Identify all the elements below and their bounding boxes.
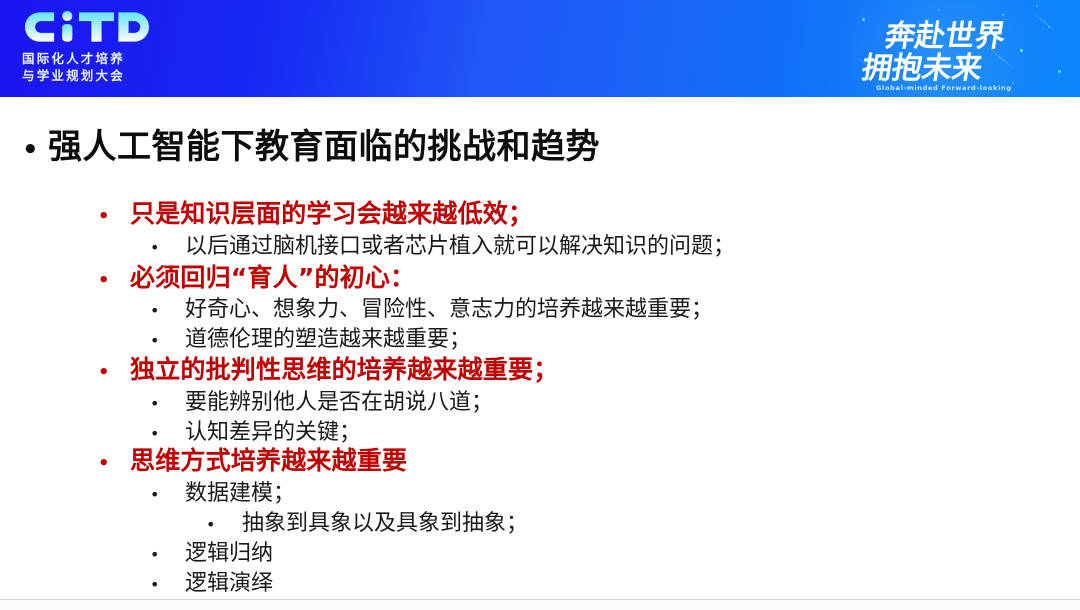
bullet-point-icon: • (150, 575, 185, 594)
slogan-english: Global-minded Forward-looking (876, 84, 1012, 92)
bullet-item: • 只是知识层面的学习会越来越低效； (98, 194, 533, 230)
slogan-artwork: 奔赴世界 拥抱未来 Global-minded Forward-looking (858, 6, 1058, 94)
bullet-point-icon: • (206, 515, 242, 534)
citd-logo: 国际化人才培养 与学业规划大会 (22, 8, 172, 90)
bullet-item: • 逻辑演绎 (150, 565, 273, 597)
bullet-text: 数据建模； (185, 475, 295, 507)
bullet-text: 思维方式培养越来越重要 (130, 441, 407, 477)
bullet-text: 要能辨别他人是否在胡说八道； (185, 384, 493, 416)
bullet-text: 抽象到具象以及具象到抽象； (242, 505, 528, 537)
bullet-item: • 逻辑归纳 (150, 535, 273, 567)
bullet-point-icon: • (98, 362, 130, 383)
bullet-text: 好奇心、想象力、冒险性、意志力的培养越来越重要； (185, 291, 713, 323)
bullet-text: 以后通过脑机接口或者芯片植入就可以解决知识的问题； (185, 228, 735, 260)
slogan-line1: 奔赴世界 (882, 19, 1008, 54)
bullet-item: • 要能辨别他人是否在胡说八道； (150, 384, 493, 416)
bullet-item: • 好奇心、想象力、冒险性、意志力的培养越来越重要； (150, 291, 713, 323)
bullet-item: • 以后通过脑机接口或者芯片植入就可以解决知识的问题； (150, 228, 735, 260)
citd-wordmark-icon (22, 8, 168, 46)
bullet-point-icon: • (98, 453, 130, 474)
bullet-point-icon: • (150, 301, 185, 320)
bullet-point-icon: • (150, 545, 185, 564)
bullet-text: 必须回归“育人”的初心： (130, 258, 415, 294)
bullet-item: • 抽象到具象以及具象到抽象； (206, 505, 528, 537)
logo-subtitle-line1: 国际化人才培养 (22, 51, 172, 67)
slide-content: • 强人工智能下教育面临的挑战和趋势 • 只是知识层面的学习会越来越低效； • … (0, 97, 1080, 599)
bullet-point-icon: • (150, 238, 185, 257)
bullet-item: • 必须回归“育人”的初心： (98, 258, 415, 294)
bullet-text: 独立的批判性思维的培养越来越重要； (130, 350, 558, 386)
logo-subtitle-line2: 与学业规划大会 (22, 68, 172, 84)
footer-strip (0, 600, 1080, 610)
bullet-point-icon: • (150, 394, 185, 413)
bullet-item: • 独立的批判性思维的培养越来越重要； (98, 350, 558, 386)
bullet-text: 道德伦理的塑造越来越重要； (185, 321, 471, 353)
bullet-item: • 思维方式培养越来越重要 (98, 441, 407, 477)
header-banner: 国际化人才培养 与学业规划大会 奔赴世界 拥抱未来 Global-minded … (0, 0, 1080, 97)
page-title: • 强人工智能下教育面临的挑战和趋势 (22, 119, 600, 168)
bullet-point-icon: • (150, 331, 185, 350)
bullet-item: • 数据建模； (150, 475, 295, 507)
bullet-point-icon: • (150, 485, 185, 504)
bullet-text: 逻辑演绎 (185, 565, 273, 597)
bullet-point-icon: • (98, 206, 130, 227)
title-text: 强人工智能下教育面临的挑战和趋势 (48, 119, 600, 168)
bullet-text: 只是知识层面的学习会越来越低效； (130, 194, 533, 230)
bullet-item: • 道德伦理的塑造越来越重要； (150, 321, 471, 353)
slogan-line2: 拥抱未来 (859, 51, 985, 86)
title-bullet-icon: • (22, 137, 48, 163)
bullet-text: 逻辑归纳 (185, 535, 273, 567)
bullet-point-icon: • (98, 270, 130, 291)
